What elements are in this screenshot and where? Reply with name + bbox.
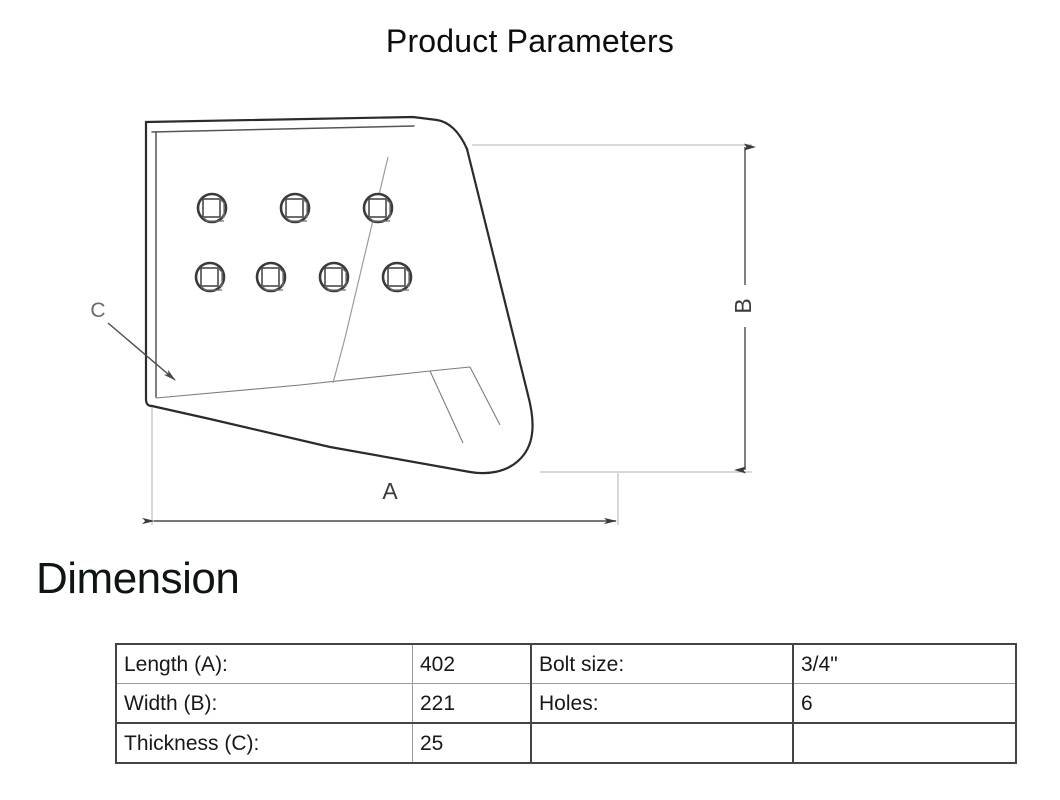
section-heading-dimension: Dimension — [36, 555, 239, 603]
cell-thickness-value: 25 — [413, 723, 532, 763]
dimension-spec-table-wrapper: Length (A): 402 Bolt size: 3/4" Width (B… — [115, 643, 980, 764]
technical-drawing-svg: B A C — [0, 95, 1060, 545]
dimension-c-label: C — [90, 299, 105, 322]
dimension-spec-table: Length (A): 402 Bolt size: 3/4" Width (B… — [115, 643, 1017, 764]
cell-length-label: Length (A): — [116, 644, 413, 684]
cell-holes-label: Holes: — [531, 684, 793, 724]
bolt-hole-icon — [281, 194, 309, 222]
cell-width-value: 221 — [413, 684, 532, 724]
bolt-hole-icon — [196, 263, 224, 291]
bolt-hole-icon — [364, 194, 392, 222]
page-title: Product Parameters — [0, 24, 1060, 59]
cell-empty-value — [793, 723, 1016, 763]
cell-boltsize-label: Bolt size: — [531, 644, 793, 684]
cell-empty-label — [531, 723, 793, 763]
bolt-hole-group — [196, 194, 411, 291]
dimension-b-label: B — [730, 298, 756, 313]
bolt-hole-icon — [198, 194, 226, 222]
cell-thickness-label: Thickness (C): — [116, 723, 413, 763]
cell-boltsize-value: 3/4" — [793, 644, 1016, 684]
product-drawing-panel: B A C — [0, 95, 1060, 545]
cell-width-label: Width (B): — [116, 684, 413, 724]
table-row: Width (B): 221 Holes: 6 — [116, 684, 1016, 724]
dimension-b: B — [472, 145, 756, 472]
bolt-hole-icon — [257, 263, 285, 291]
dimension-c-callout: C — [90, 299, 175, 380]
table-row: Thickness (C): 25 — [116, 723, 1016, 763]
table-row: Length (A): 402 Bolt size: 3/4" — [116, 644, 1016, 684]
bolt-hole-icon — [383, 263, 411, 291]
dimension-a-label: A — [382, 478, 398, 504]
cell-holes-value: 6 — [793, 684, 1016, 724]
dimension-a: A — [152, 407, 618, 525]
bolt-hole-icon — [320, 263, 348, 291]
cell-length-value: 402 — [413, 644, 532, 684]
part-outline — [146, 117, 533, 473]
